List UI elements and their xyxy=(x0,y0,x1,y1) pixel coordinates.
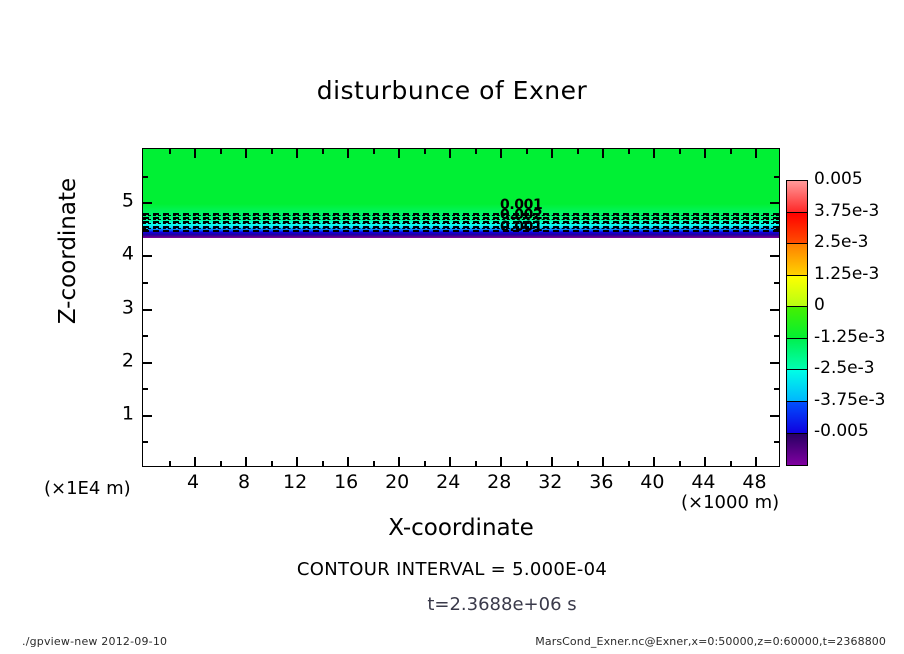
axis-tick xyxy=(475,461,477,466)
axis-tick xyxy=(500,149,502,158)
y-axis-unit-label: (×1E4 m) xyxy=(44,478,131,499)
colorbar xyxy=(786,180,808,464)
axis-tick xyxy=(704,149,706,158)
x-tick-label: 28 xyxy=(487,473,511,492)
axis-tick xyxy=(755,149,757,158)
y-tick-label: 3 xyxy=(122,298,134,317)
x-axis-title: X-coordinate xyxy=(142,515,780,541)
axis-tick xyxy=(143,362,152,364)
axis-tick xyxy=(271,461,273,466)
axis-tick xyxy=(449,457,451,466)
axis-tick xyxy=(770,362,779,364)
y-tick-label: 1 xyxy=(122,404,134,423)
colorbar-tick-label: -1.25e-3 xyxy=(814,329,885,346)
axis-tick xyxy=(373,149,375,154)
axis-tick xyxy=(679,149,681,154)
x-tick-label: 16 xyxy=(334,473,358,492)
contour-line xyxy=(143,215,779,216)
fill-region-zero-band xyxy=(143,149,779,204)
contour-interval-annotation: CONTOUR INTERVAL = 5.000E-04 xyxy=(0,559,904,580)
colorbar-tick-label: -3.75e-3 xyxy=(814,392,885,409)
axis-tick xyxy=(143,176,148,178)
colorbar-tick-label: 0.005 xyxy=(814,171,863,188)
axis-tick xyxy=(526,149,528,154)
axis-tick xyxy=(526,461,528,466)
axis-tick xyxy=(551,149,553,158)
axis-tick xyxy=(296,149,298,158)
axis-tick xyxy=(730,461,732,466)
axis-tick xyxy=(220,461,222,466)
axis-tick xyxy=(774,229,779,231)
x-tick-label: 8 xyxy=(238,473,250,492)
axis-tick xyxy=(730,149,732,154)
colorbar-band xyxy=(786,180,808,213)
colorbar-band xyxy=(786,306,808,339)
colorbar-band xyxy=(786,369,808,402)
colorbar-tick-labels: 0.0053.75e-32.5e-31.25e-30-1.25e-3-2.5e-… xyxy=(814,180,904,464)
axis-tick xyxy=(475,149,477,154)
footer-command-label: ./gpview-new 2012-09-10 xyxy=(22,635,167,648)
x-tick-label: 12 xyxy=(283,473,307,492)
fill-region-blank xyxy=(143,238,779,466)
colorbar-band xyxy=(786,338,808,371)
axis-tick xyxy=(194,149,196,158)
colorbar-band xyxy=(786,433,808,466)
axis-tick xyxy=(774,441,779,443)
axis-tick xyxy=(398,457,400,466)
axis-tick xyxy=(143,415,152,417)
axis-tick xyxy=(774,335,779,337)
axis-tick xyxy=(424,461,426,466)
contour-line xyxy=(143,223,779,224)
footer-source-label: MarsCond_Exner.nc@Exner,x=0:50000,z=0:60… xyxy=(535,635,886,648)
axis-tick xyxy=(770,309,779,311)
page-title: disturbunce of Exner xyxy=(0,76,904,105)
contour-line xyxy=(143,228,779,229)
axis-tick xyxy=(602,149,604,158)
colorbar-band xyxy=(786,212,808,245)
axis-tick xyxy=(770,255,779,257)
axis-tick xyxy=(169,461,171,466)
x-tick-label: 20 xyxy=(385,473,409,492)
x-axis-unit-label: (×1000 m) xyxy=(681,492,779,513)
axis-tick xyxy=(322,461,324,466)
axis-tick xyxy=(143,229,148,231)
x-tick-label: 36 xyxy=(589,473,613,492)
axis-tick xyxy=(653,457,655,466)
axis-tick xyxy=(551,457,553,466)
contour-line xyxy=(143,230,779,232)
colorbar-tick-label: 3.75e-3 xyxy=(814,203,879,220)
axis-tick xyxy=(296,457,298,466)
x-tick-label: 32 xyxy=(538,473,562,492)
axis-tick xyxy=(169,149,171,154)
axis-tick xyxy=(373,461,375,466)
colorbar-tick-label: 0 xyxy=(814,297,825,314)
axis-tick xyxy=(322,149,324,154)
y-tick-label: 2 xyxy=(122,351,134,370)
axis-tick xyxy=(143,202,152,204)
time-annotation: t=2.3688e+06 s xyxy=(0,594,904,615)
axis-tick xyxy=(770,202,779,204)
axis-tick xyxy=(245,457,247,466)
axis-tick xyxy=(143,335,148,337)
axis-tick xyxy=(774,282,779,284)
axis-tick xyxy=(628,149,630,154)
plot-canvas: 0.001 0.002 0.001 xyxy=(142,148,780,467)
x-tick-label: 4 xyxy=(187,473,199,492)
axis-tick xyxy=(449,149,451,158)
axis-tick xyxy=(220,149,222,154)
y-axis-tick-labels: 12345 xyxy=(96,148,134,467)
colorbar-band xyxy=(786,275,808,308)
y-tick-label: 5 xyxy=(122,192,134,211)
axis-tick xyxy=(577,149,579,154)
contour-inline-label: 0.001 xyxy=(500,219,542,235)
colorbar-tick-label: -2.5e-3 xyxy=(814,360,875,377)
axis-tick xyxy=(143,309,152,311)
colorbar-band xyxy=(786,401,808,434)
axis-tick xyxy=(774,176,779,178)
contour-line xyxy=(143,219,779,220)
axis-tick xyxy=(577,461,579,466)
axis-tick xyxy=(704,457,706,466)
x-tick-label: 44 xyxy=(691,473,715,492)
axis-tick xyxy=(271,149,273,154)
y-axis-title: Z-coordinate xyxy=(55,141,81,361)
axis-tick xyxy=(347,149,349,158)
colorbar-tick-label: -0.005 xyxy=(814,424,869,441)
axis-tick xyxy=(347,457,349,466)
axis-tick xyxy=(194,457,196,466)
axis-tick xyxy=(774,388,779,390)
colorbar-tick-label: 2.5e-3 xyxy=(814,234,868,251)
x-tick-label: 24 xyxy=(436,473,460,492)
axis-tick xyxy=(653,149,655,158)
axis-tick xyxy=(143,255,152,257)
axis-tick xyxy=(398,149,400,158)
axis-tick xyxy=(500,457,502,466)
axis-tick xyxy=(755,457,757,466)
y-tick-label: 4 xyxy=(122,245,134,264)
x-tick-label: 48 xyxy=(742,473,766,492)
colorbar-band xyxy=(786,243,808,276)
axis-tick xyxy=(245,149,247,158)
axis-tick xyxy=(770,415,779,417)
colorbar-tick-label: 1.25e-3 xyxy=(814,266,879,283)
axis-tick xyxy=(679,461,681,466)
axis-tick xyxy=(143,282,148,284)
axis-tick xyxy=(602,457,604,466)
axis-tick xyxy=(424,149,426,154)
x-tick-label: 40 xyxy=(640,473,664,492)
axis-tick xyxy=(143,441,148,443)
axis-tick xyxy=(628,461,630,466)
axis-tick xyxy=(143,388,148,390)
